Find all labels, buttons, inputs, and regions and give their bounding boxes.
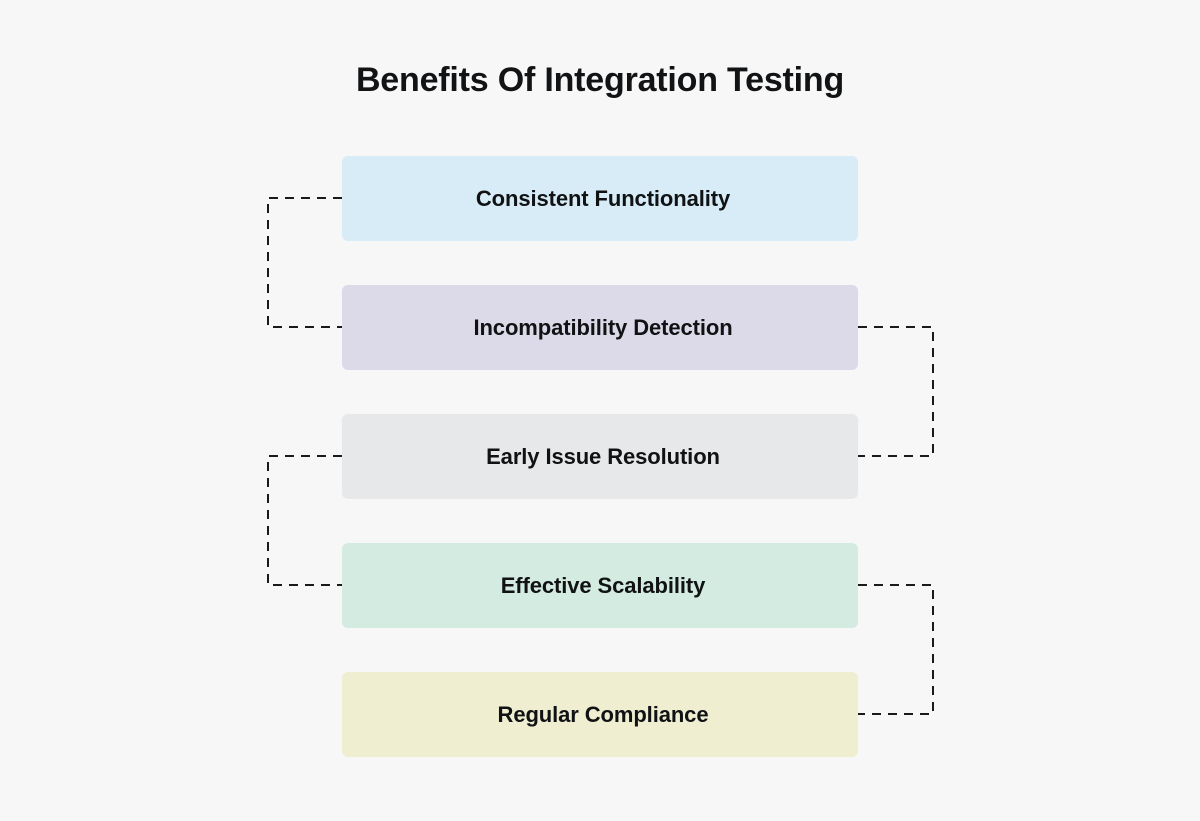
benefit-node-effective-scalability[interactable]: Effective Scalability [342,543,858,628]
infographic-canvas: Benefits Of Integration Testing Consiste… [0,0,1200,821]
benefit-node-label: Effective Scalability [495,573,706,599]
benefit-node-early-issue-resolution[interactable]: Early Issue Resolution [342,414,858,499]
benefit-node-incompatibility-detection[interactable]: Incompatibility Detection [342,285,858,370]
benefit-node-label: Regular Compliance [492,702,709,728]
benefit-node-label: Consistent Functionality [470,186,730,212]
benefit-node-label: Early Issue Resolution [480,444,720,470]
benefit-node-label: Incompatibility Detection [467,315,732,341]
benefit-node-consistent-functionality[interactable]: Consistent Functionality [342,156,858,241]
benefit-node-list: Consistent Functionality Incompatibility… [0,0,1200,821]
benefit-node-regular-compliance[interactable]: Regular Compliance [342,672,858,757]
